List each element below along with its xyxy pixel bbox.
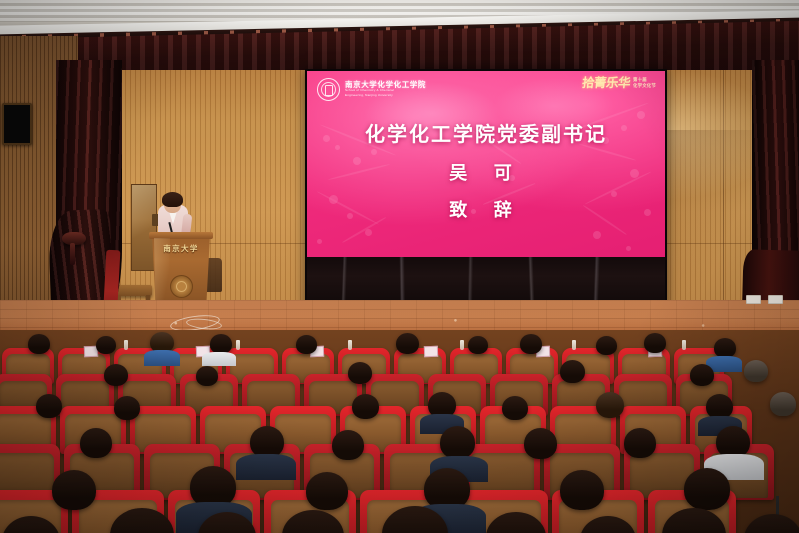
festival-logo: 拾菁乐华 第十届 化学文化节: [582, 77, 656, 90]
podium-label: 南京大学: [155, 243, 207, 254]
audience-head: [440, 426, 475, 459]
institution-name-en-2: Engineering, Nanjing University: [345, 94, 426, 98]
audience-head: [502, 396, 528, 420]
wall-outlet-1[interactable]: [746, 295, 761, 304]
audience-head: [524, 428, 557, 459]
festival-name: 化学文化节: [633, 83, 656, 88]
water-bottle: [124, 340, 128, 350]
seat-paper-sign: [424, 346, 438, 357]
stage-door[interactable]: [131, 184, 157, 271]
audience-head: [210, 334, 232, 354]
door-highlight: [132, 185, 156, 270]
water-bottle: [348, 340, 352, 350]
water-bottle: [460, 340, 464, 350]
audience-head: [348, 362, 372, 384]
audience-shoulders: [236, 454, 296, 480]
auditorium-photo: 南京大学化学化工学院 School of Chemistry & Chemica…: [0, 0, 799, 533]
institution-logo-texts: 南京大学化学化工学院 School of Chemistry & Chemica…: [345, 81, 426, 98]
led-screen: 南京大学化学化工学院 School of Chemistry & Chemica…: [307, 71, 665, 257]
slide-title-role: 化学化工学院党委副书记: [307, 123, 665, 148]
slide-title-name: 吴 可: [307, 159, 665, 185]
audience-head: [690, 364, 714, 386]
institution-name-cn: 南京大学化学化工学院: [345, 81, 426, 89]
audience-head: [714, 338, 736, 358]
audience-head: [296, 335, 317, 354]
audience-head: [560, 360, 585, 383]
curtain-tieback-tail: [70, 243, 75, 265]
water-bottle: [236, 340, 240, 350]
audience-head: [28, 334, 50, 354]
audience-head: [468, 336, 488, 354]
institution-logo: 南京大学化学化工学院 School of Chemistry & Chemica…: [317, 78, 426, 101]
audience-head: [744, 514, 799, 533]
audience-head: [744, 360, 768, 382]
audience-head: [684, 468, 730, 510]
speaker-hair: [162, 192, 183, 207]
audience-head: [596, 336, 617, 355]
audience-head: [196, 366, 218, 386]
audience-head: [770, 392, 796, 416]
audience-head: [52, 470, 96, 510]
audience-shoulders: [144, 350, 180, 366]
nju-crest-emblem: [170, 275, 193, 298]
festival-sublabels: 第十届 化学文化节: [633, 77, 656, 90]
audience-head: [644, 333, 666, 353]
podium-top-surface: [149, 232, 213, 239]
audience-head: [624, 428, 656, 458]
audience-seating-area: [0, 330, 799, 533]
water-bottle: [682, 340, 686, 350]
audience-head: [80, 428, 112, 458]
festival-edition: 第十届: [633, 77, 656, 82]
audience-head: [520, 334, 542, 354]
screen-title-block: 化学化工学院党委副书记 吴 可 致 辞: [307, 123, 665, 222]
audience-head: [560, 470, 604, 510]
wall-monitor-display[interactable]: [2, 103, 32, 145]
wall-outlet-2[interactable]: [768, 295, 783, 304]
audience-head: [352, 394, 379, 419]
festival-calligraphy: 拾菁乐华: [581, 77, 630, 90]
audience-shoulders: [202, 352, 236, 366]
audience-head: [36, 394, 62, 418]
audience-head: [114, 396, 140, 420]
audience-head: [96, 336, 116, 354]
audience-head: [104, 364, 128, 386]
nju-seal-icon: [317, 78, 340, 101]
audience-head: [332, 430, 364, 460]
slide-title-action: 致 辞: [307, 196, 665, 222]
water-bottle: [572, 340, 576, 350]
audience-head: [596, 392, 624, 418]
audience-head: [306, 472, 348, 510]
audience-head: [396, 333, 419, 354]
